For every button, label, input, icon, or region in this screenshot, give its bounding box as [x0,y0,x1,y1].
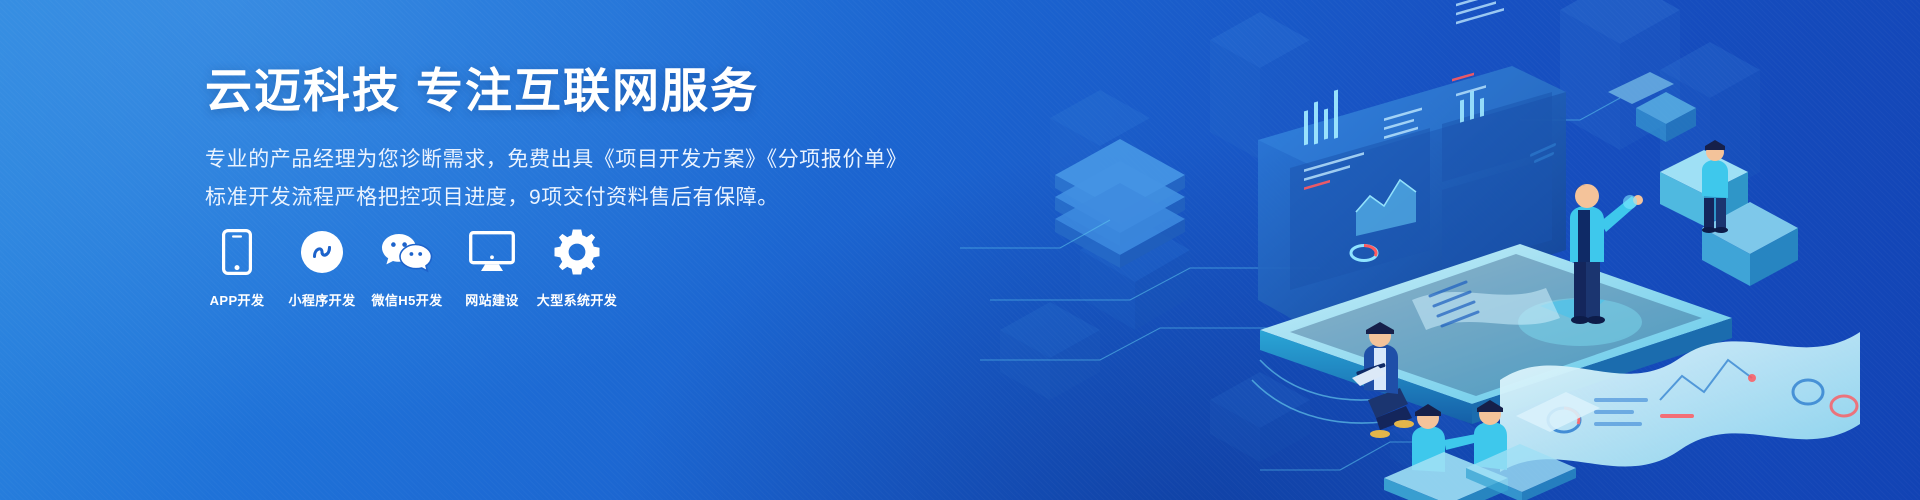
service-item-website[interactable]: 网站建设 [455,228,529,309]
page-title: 云迈科技 专注互联网服务 [205,66,925,117]
service-item-system[interactable]: 大型系统开发 [540,228,614,309]
service-label-miniprogram: 小程序开发 [288,290,355,309]
service-item-wechat[interactable]: 微信H5开发 [370,228,444,309]
subtitle-line-2: 标准开发流程严格把控项目进度，9项交付资料售后有保障。 [205,181,925,214]
service-item-miniprogram[interactable]: 小程序开发 [285,228,359,309]
mini-program-icon [300,228,344,276]
banner-copy: 云迈科技 专注互联网服务 专业的产品经理为您诊断需求，免费出具《项目开发方案》《… [205,66,925,214]
gear-icon [554,228,600,276]
monitor-icon [469,228,515,276]
service-label-wechat: 微信H5开发 [371,290,442,309]
subtitle-line-1: 专业的产品经理为您诊断需求，免费出具《项目开发方案》《分项报价单》 [205,143,925,176]
service-icon-row: APP开发 小程序开发 [200,228,614,309]
wechat-icon [381,228,433,276]
service-item-app[interactable]: APP开发 [200,228,274,309]
service-label-app: APP开发 [210,290,265,309]
hero-banner: 云迈科技 专注互联网服务 专业的产品经理为您诊断需求，免费出具《项目开发方案》《… [0,0,1920,500]
isometric-illustration [960,0,1920,500]
service-label-system: 大型系统开发 [537,290,617,309]
service-label-website: 网站建设 [465,290,519,309]
mobile-phone-icon [222,228,252,276]
